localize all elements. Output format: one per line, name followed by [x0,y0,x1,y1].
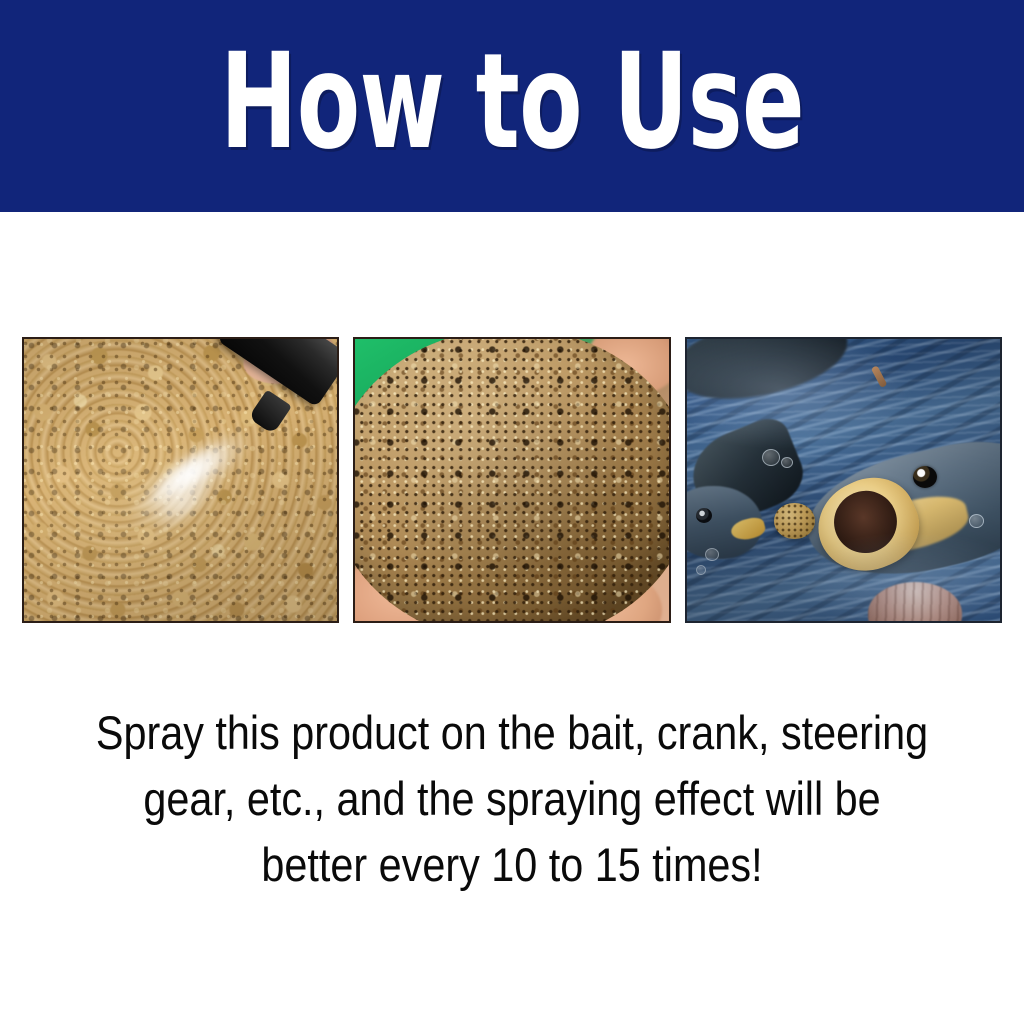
bait-dough-ball-icon [355,339,668,621]
caption-line-2: gear, etc., and the spraying effect will… [61,766,962,832]
water-sheen [687,339,1000,621]
spray-bottle-on-pellets-icon [24,339,337,621]
caption-block: Spray this product on the bait, crank, s… [0,700,1024,898]
caption-line-3: better every 10 to 15 times! [61,832,962,898]
dough-ball [355,339,668,621]
photo-gallery-row [22,337,1002,623]
carp-feeding-in-water-icon [687,339,1000,621]
page-title: How to Use [220,36,804,168]
photo-spraying-pellets [22,337,339,623]
dough-grain-coarse [355,339,668,621]
photo-carp-feeding [685,337,1002,623]
photo-bait-dough-ball [353,337,670,623]
header-banner: How to Use [0,0,1024,212]
caption-line-1: Spray this product on the bait, crank, s… [61,700,962,766]
